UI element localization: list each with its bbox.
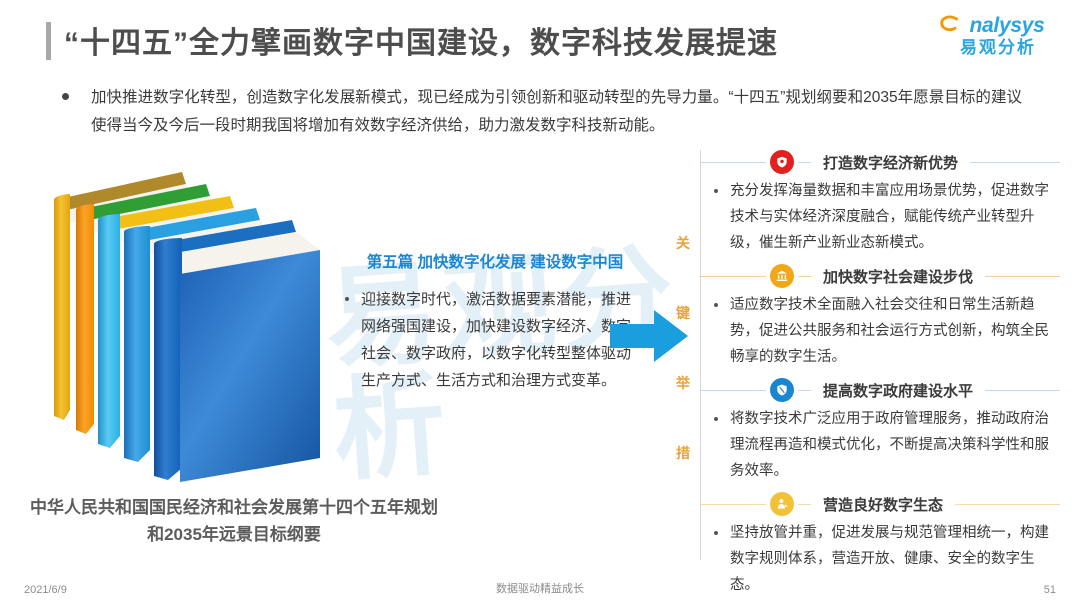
middle-column: 第五篇 加快数字化发展 建设数字中国 迎接数字时代，激活数据要素潜能，推进网络强…	[345, 250, 645, 394]
measure-header: 打造数字经济新优势	[700, 148, 1060, 176]
shield-glyph	[775, 383, 789, 397]
measure-section: 提高数字政府建设水平 将数字技术广泛应用于政府管理服务，推动政府治理流程再造和模…	[700, 376, 1060, 484]
chapter-text: 迎接数字时代，激活数据要素潜能，推进网络强国建设，加快建设数字经济、数字社会、数…	[361, 286, 645, 394]
divider-line-left	[700, 162, 766, 163]
shield-icon	[770, 378, 794, 402]
measure-title: 加快数字社会建设步伐	[823, 266, 973, 287]
divider-line-right	[970, 162, 1060, 163]
brand-logo: nalysys 易观分析	[938, 14, 1058, 66]
chapter-body: 迎接数字时代，激活数据要素潜能，推进网络强国建设，加快建设数字经济、数字社会、数…	[345, 286, 645, 394]
chapter-heading: 第五篇 加快数字化发展 建设数字中国	[345, 250, 645, 272]
person-growth-icon	[770, 492, 794, 516]
divider-line-right	[955, 504, 1060, 505]
shield-star-icon	[770, 150, 794, 174]
measure-header: 提高数字政府建设水平	[700, 376, 1060, 404]
divider-line-short	[798, 504, 811, 505]
logo-cn-label: 易观分析	[938, 38, 1058, 58]
footer-page-number: 51	[1044, 584, 1056, 596]
divider-line-right	[985, 276, 1060, 277]
title-accent-bar	[46, 22, 51, 60]
intro-text: 加快推进数字化转型，创造数字化发展新模式，现已经成为引领创新和驱动转型的先导力量…	[91, 84, 1022, 140]
slide-root: 易观分析 “十四五”全力擘画数字中国建设，数字科技发展提速 nalysys 易观…	[0, 0, 1080, 608]
divider-line-short	[798, 276, 811, 277]
shield-star-glyph	[775, 155, 789, 169]
measure-body: 充分发挥海量数据和丰富应用场景优势，促进数字技术与实体经济深度融合，赋能传统产业…	[700, 178, 1060, 256]
logo-en-label: nalysys	[952, 14, 1045, 37]
measure-text: 将数字技术广泛应用于政府管理服务，推动政府治理流程再造和模式优化，不断提高决策科…	[730, 406, 1050, 484]
logo-swoosh-icon	[940, 14, 960, 34]
key-measures-list: 打造数字经济新优势 充分发挥海量数据和丰富应用场景优势，促进数字技术与实体经济深…	[700, 148, 1060, 604]
intro-paragraph: 加快推进数字化转型，创造数字化发展新模式，现已经成为引领创新和驱动转型的先导力量…	[62, 84, 1022, 140]
measure-header: 加快数字社会建设步伐	[700, 262, 1060, 290]
bank-building-icon	[770, 264, 794, 288]
vertical-char-0: 关	[672, 208, 694, 278]
page-title: “十四五”全力擘画数字中国建设，数字科技发展提速	[64, 18, 778, 62]
measure-text: 充分发挥海量数据和丰富应用场景优势，促进数字技术与实体经济深度融合，赋能传统产业…	[730, 178, 1050, 256]
bullet-dot-icon	[714, 189, 718, 193]
person-growth-glyph	[775, 497, 789, 511]
measure-section: 打造数字经济新优势 充分发挥海量数据和丰富应用场景优势，促进数字技术与实体经济深…	[700, 148, 1060, 256]
measure-body: 将数字技术广泛应用于政府管理服务，推动政府治理流程再造和模式优化，不断提高决策科…	[700, 406, 1060, 484]
measure-text: 适应数字技术全面融入社会交往和日常生活新趋势，促进公共服务和社会运行方式创新，构…	[730, 292, 1050, 370]
measure-section: 加快数字社会建设步伐 适应数字技术全面融入社会交往和日常生活新趋势，促进公共服务…	[700, 262, 1060, 370]
divider-line-left	[700, 276, 766, 277]
divider-line-left	[700, 504, 766, 505]
bullet-dot-icon	[62, 93, 69, 100]
divider-line-right	[985, 390, 1060, 391]
bullet-dot-icon	[714, 417, 718, 421]
books-caption: 中华人民共和国国民经济和社会发展第十四个五年规划和2035年远景目标纲要	[24, 494, 444, 548]
measure-body: 适应数字技术全面融入社会交往和日常生活新趋势，促进公共服务和社会运行方式创新，构…	[700, 292, 1060, 370]
measure-title: 营造良好数字生态	[823, 494, 943, 515]
measure-title: 打造数字经济新优势	[823, 152, 958, 173]
footer-slogan: 数据驱动精益成长	[0, 580, 1080, 596]
divider-line-left	[700, 390, 766, 391]
right-arrow-icon	[610, 308, 688, 364]
divider-line-short	[798, 162, 811, 163]
vertical-char-3: 措	[672, 418, 694, 488]
measure-header: 营造良好数字生态	[700, 490, 1060, 518]
bullet-dot-icon	[714, 303, 718, 307]
measure-title: 提高数字政府建设水平	[823, 380, 973, 401]
logo-text-en: nalysys	[938, 14, 1058, 38]
bullet-dot-icon	[345, 297, 349, 301]
books-illustration	[34, 162, 334, 492]
bullet-dot-icon	[714, 531, 718, 535]
bank-building-glyph	[775, 269, 789, 283]
divider-line-short	[798, 390, 811, 391]
